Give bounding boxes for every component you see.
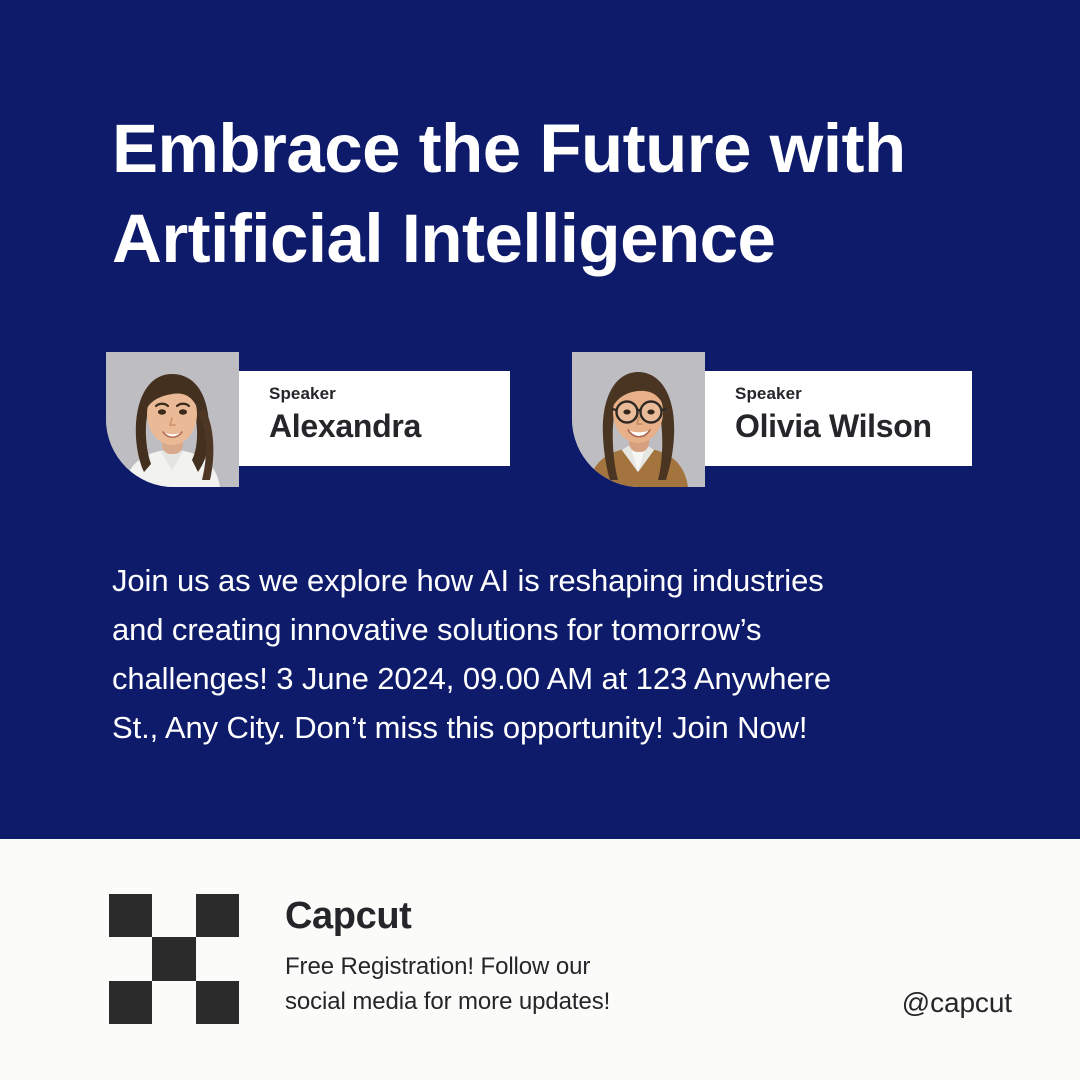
description-line-3: challenges! 3 June 2024, 09.00 AM at 123… xyxy=(112,654,992,703)
description-line-4: St., Any City. Don’t miss this opportuni… xyxy=(112,703,992,752)
logo-cell-1-0 xyxy=(109,937,152,980)
speaker-card-alexandra[interactable]: Speaker Alexandra xyxy=(106,352,510,487)
logo-cell-2-1 xyxy=(152,981,195,1024)
speaker-role-label: Speaker xyxy=(735,384,972,404)
event-poster: Embrace the Future with Artificial Intel… xyxy=(0,0,1080,1080)
tagline-line-1: Free Registration! Follow our xyxy=(285,949,755,984)
brand-name: Capcut xyxy=(285,893,755,939)
description-line-2: and creating innovative solutions for to… xyxy=(112,605,992,654)
logo-grid xyxy=(109,894,239,1024)
logo-cell-1-1 xyxy=(152,937,195,980)
speaker-name-label: Olivia Wilson xyxy=(735,405,972,447)
speaker-avatar-olivia-wilson xyxy=(572,352,705,487)
speaker-card-olivia-wilson[interactable]: Speaker Olivia Wilson xyxy=(572,352,972,487)
tagline-line-2: social media for more updates! xyxy=(285,984,755,1019)
title-line-2: Artificial Intelligence xyxy=(112,194,992,284)
logo-cell-0-0 xyxy=(109,894,152,937)
social-handle[interactable]: @capcut xyxy=(902,986,1012,1020)
brand-tagline: Free Registration! Follow our social med… xyxy=(285,949,755,1019)
speaker-role-label: Speaker xyxy=(269,384,510,404)
speaker-card-list: Speaker Alexandra xyxy=(106,352,986,487)
speaker-name-label: Alexandra xyxy=(269,405,510,447)
speaker-nameplate-olivia-wilson: Speaker Olivia Wilson xyxy=(705,371,972,466)
speaker-nameplate-alexandra: Speaker Alexandra xyxy=(239,371,510,466)
logo-cell-1-2 xyxy=(196,937,239,980)
checkerboard-x-icon xyxy=(109,894,239,1024)
title-line-1: Embrace the Future with xyxy=(112,104,992,194)
logo-cell-2-2 xyxy=(196,981,239,1024)
hero-panel: Embrace the Future with Artificial Intel… xyxy=(0,0,1080,839)
logo-cell-0-2 xyxy=(196,894,239,937)
brand-block: Capcut Free Registration! Follow our soc… xyxy=(285,893,755,1019)
event-description: Join us as we explore how AI is reshapin… xyxy=(112,556,992,752)
description-line-1: Join us as we explore how AI is reshapin… xyxy=(112,556,992,605)
page-title: Embrace the Future with Artificial Intel… xyxy=(112,104,992,284)
logo-cell-2-0 xyxy=(109,981,152,1024)
logo-cell-0-1 xyxy=(152,894,195,937)
speaker-avatar-alexandra xyxy=(106,352,239,487)
